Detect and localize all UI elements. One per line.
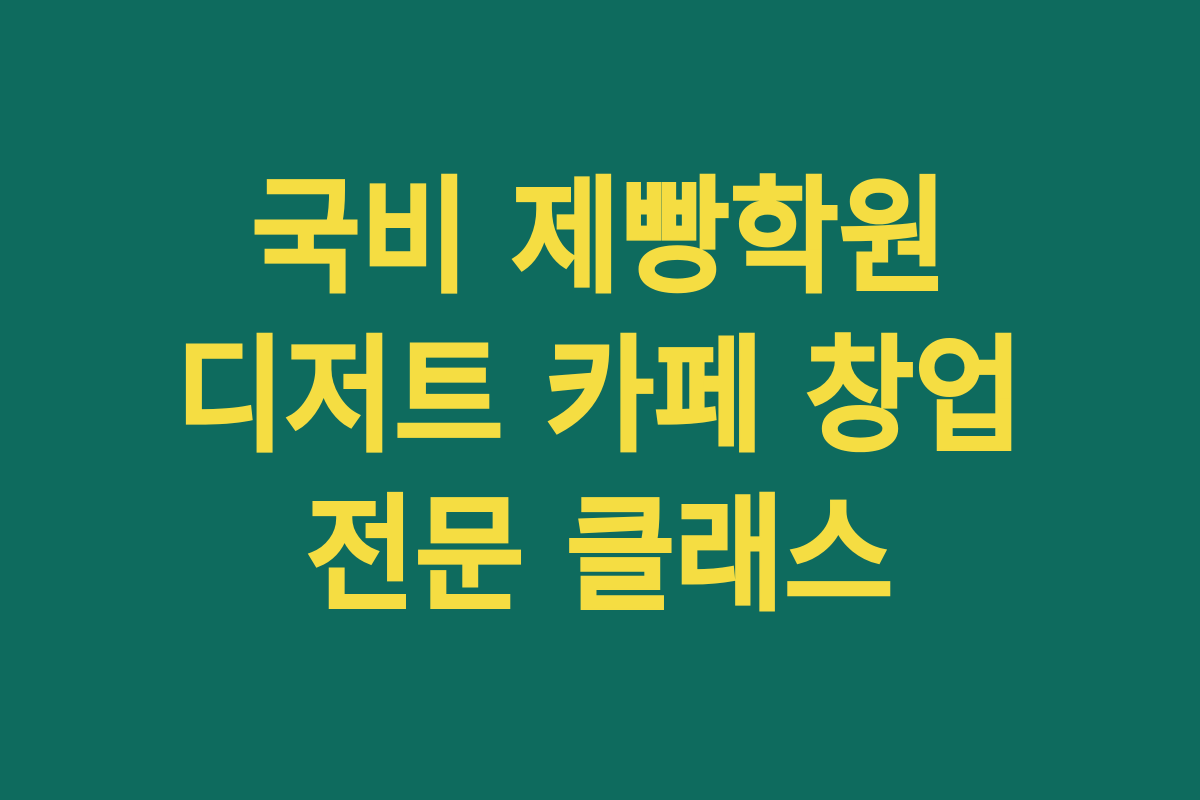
headline-text: 국비 제빵학원 디저트 카페 창업 전문 클래스	[70, 159, 1130, 636]
banner-canvas: 국비 제빵학원 디저트 카페 창업 전문 클래스	[0, 0, 1200, 800]
headline-block: 국비 제빵학원 디저트 카페 창업 전문 클래스	[70, 172, 1130, 628]
